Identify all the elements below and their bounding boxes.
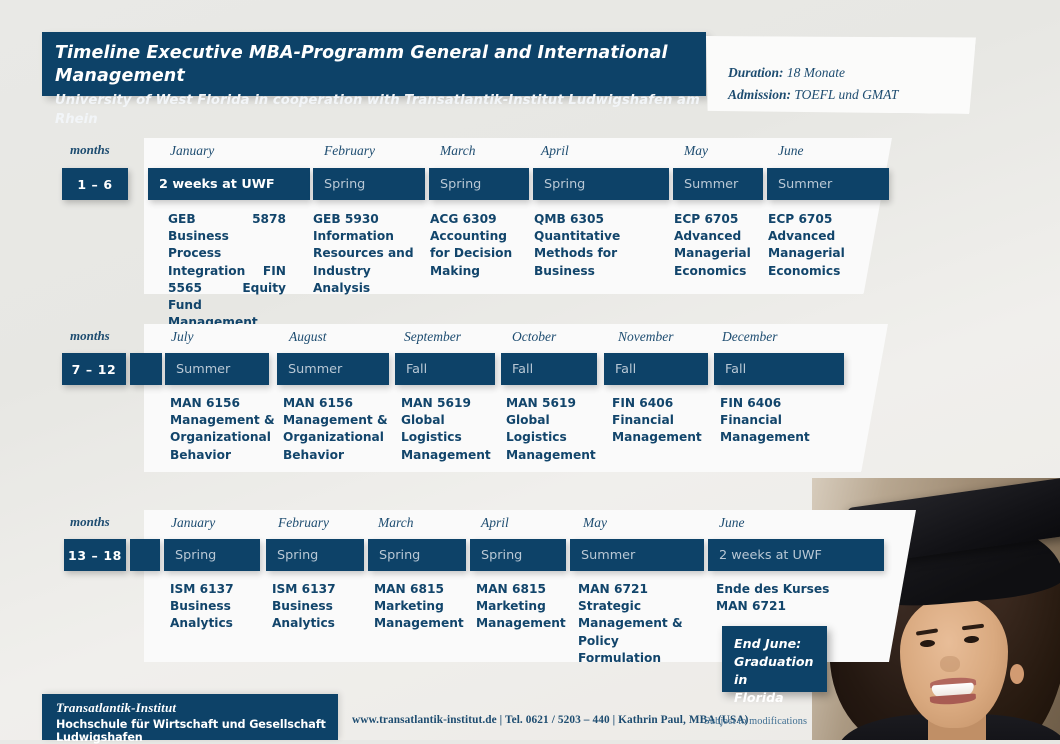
term-cell-1-5: Summer: [673, 168, 763, 200]
course-cell-1-5: ECP 6705 Advanced Managerial Economics: [674, 211, 766, 280]
month-header-aug-2: August: [289, 329, 327, 345]
month-header-jan-1: January: [170, 143, 214, 159]
duration-row: Duration: 18 Monate: [728, 62, 976, 84]
term-cell-2-1: Summer: [165, 353, 269, 385]
course-cell-2-5: FIN 6406 Financial Management: [612, 395, 712, 447]
months-badge-2: 7 – 12: [62, 353, 126, 385]
course-cell-2-1: MAN 6156 Management & Organizational Beh…: [170, 395, 280, 464]
footer-org-name: Transatlantik-Institut: [56, 700, 338, 716]
months-label-1: months: [70, 142, 110, 158]
month-header-nov-2: November: [618, 329, 673, 345]
months-badge-3: 13 – 18: [64, 539, 126, 571]
month-header-mar-3: March: [378, 515, 414, 531]
course-cell-2-2: MAN 6156 Management & Organizational Beh…: [283, 395, 393, 464]
term-cell-2-3: Fall: [395, 353, 495, 385]
course-cell-1-3: ACG 6309 Accounting for Decision Making: [430, 211, 530, 280]
course-cell-2-6: FIN 6406 Financial Management: [720, 395, 820, 447]
month-header-sep-2: September: [404, 329, 461, 345]
course-cell-3-1: ISM 6137 Business Analytics: [170, 581, 268, 633]
month-header-apr-3: April: [481, 515, 509, 531]
photo-nose: [940, 656, 960, 672]
term-cell-1-3: Spring: [429, 168, 529, 200]
program-info-card: Duration: 18 Monate Admission: TOEFL und…: [706, 36, 976, 114]
term-cell-3-1: Spring: [164, 539, 260, 571]
month-header-jun-3: June: [719, 515, 744, 531]
graduation-callout-text: End June: Graduation in Florida: [734, 635, 827, 707]
footer-org-subtitle: Hochschule für Wirtschaft und Gesellscha…: [56, 718, 338, 744]
header-banner: Timeline Executive MBA-Programm General …: [42, 32, 706, 96]
poster-canvas: Timeline Executive MBA-Programm General …: [0, 0, 1060, 740]
admission-value: TOEFL und GMAT: [794, 87, 898, 102]
course-cell-3-3: MAN 6815 Marketing Management: [374, 581, 474, 633]
term-cell-3-6: 2 weeks at UWF: [708, 539, 884, 571]
course-cell-3-6: Ende des Kurses MAN 6721: [716, 581, 846, 615]
footer-disclaimer: Subject to modifications: [704, 716, 807, 727]
course-cell-3-4: MAN 6815 Marketing Management: [476, 581, 576, 633]
row-connector-2: [130, 353, 162, 385]
month-header-mar-1: March: [440, 143, 476, 159]
course-cell-1-1: GEB 5878 Business Process Integration FI…: [168, 211, 286, 331]
months-label-2: months: [70, 328, 110, 344]
course-cell-3-5: MAN 6721 Strategic Management & Policy F…: [578, 581, 698, 667]
term-cell-1-2: Spring: [313, 168, 425, 200]
term-cell-2-5: Fall: [604, 353, 708, 385]
row-connector-3: [130, 539, 160, 571]
months-label-3: months: [70, 514, 110, 530]
month-header-apr-1: April: [541, 143, 569, 159]
term-cell-2-4: Fall: [501, 353, 597, 385]
course-cell-1-4: QMB 6305 Quantitative Methods for Busine…: [534, 211, 644, 280]
month-header-feb-1: February: [324, 143, 375, 159]
duration-value: 18 Monate: [787, 65, 845, 80]
course-cell-3-2: ISM 6137 Business Analytics: [272, 581, 370, 633]
month-header-may-3: May: [583, 515, 607, 531]
footer-contact-line: www.transatlantik-institut.de | Tel. 062…: [352, 714, 748, 726]
course-cell-2-3: MAN 5619 Global Logistics Management: [401, 395, 505, 464]
term-cell-3-3: Spring: [368, 539, 466, 571]
term-cell-2-6: Fall: [714, 353, 844, 385]
footer-brand-bar: Transatlantik-Institut Hochschule für Wi…: [42, 694, 338, 740]
month-header-feb-3: February: [278, 515, 329, 531]
page-subtitle: University of West Florida in cooperatio…: [55, 91, 706, 131]
term-cell-3-5: Summer: [570, 539, 704, 571]
admission-row: Admission: TOEFL und GMAT: [728, 84, 976, 106]
page-title: Timeline Executive MBA-Programm General …: [55, 42, 706, 88]
admission-label: Admission:: [728, 87, 791, 102]
month-header-oct-2: October: [512, 329, 556, 345]
term-cell-1-1: 2 weeks at UWF: [148, 168, 310, 200]
course-cell-2-4: MAN 5619 Global Logistics Management: [506, 395, 610, 464]
term-cell-3-2: Spring: [266, 539, 364, 571]
month-header-jul-2: July: [171, 329, 194, 345]
course-cell-1-6: ECP 6705 Advanced Managerial Economics: [768, 211, 860, 280]
term-cell-1-6: Summer: [767, 168, 889, 200]
month-header-jun-1: June: [778, 143, 803, 159]
months-badge-1: 1 – 6: [62, 168, 128, 200]
term-cell-1-4: Spring: [533, 168, 669, 200]
term-cell-2-2: Summer: [277, 353, 389, 385]
month-header-may-1: May: [684, 143, 708, 159]
graduation-callout: End June: Graduation in Florida: [722, 626, 827, 692]
month-header-dec-2: December: [722, 329, 777, 345]
photo-ear: [1010, 664, 1024, 684]
course-cell-1-2: GEB 5930 Information Resources and Indus…: [313, 211, 425, 297]
duration-label: Duration:: [728, 65, 784, 80]
month-header-jan-3: January: [171, 515, 215, 531]
term-cell-3-4: Spring: [470, 539, 566, 571]
